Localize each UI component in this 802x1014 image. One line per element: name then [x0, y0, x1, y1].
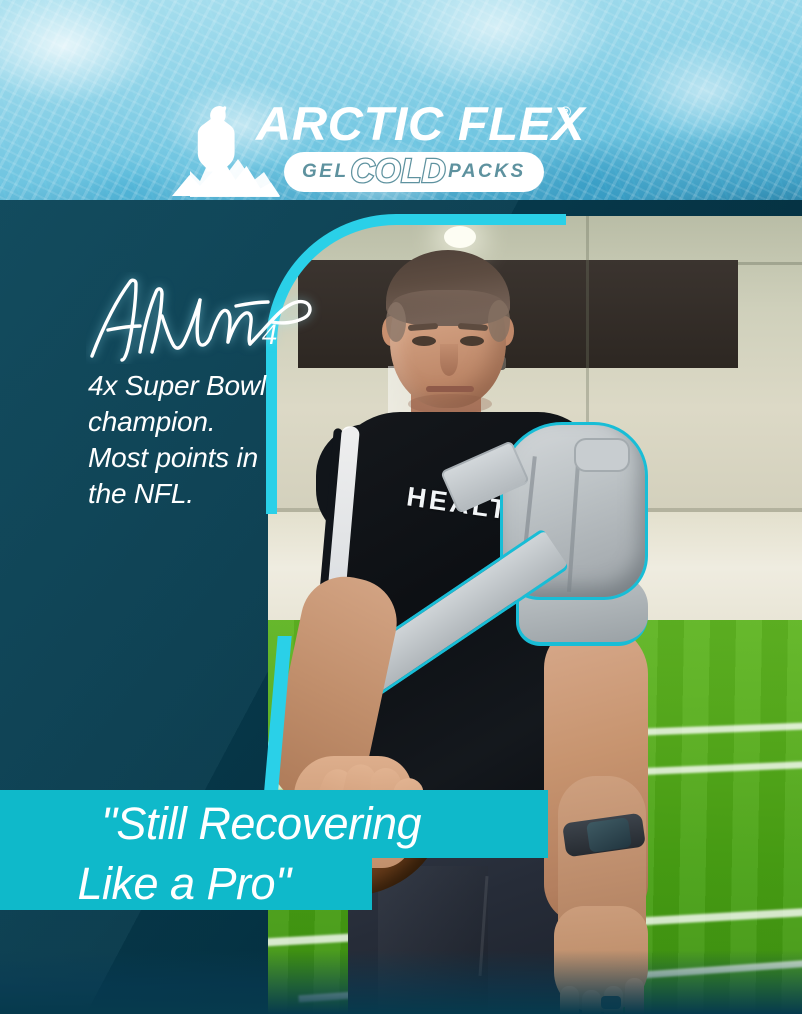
signature-jersey-number: 4 — [262, 318, 277, 352]
brace-velcro-tab — [574, 438, 630, 472]
header-fade-overlay — [0, 950, 802, 1014]
badge-packs-label: PACKS — [448, 161, 526, 183]
registered-trademark-icon: ® — [560, 104, 571, 121]
quote-text: "Still Recovering Like a Pro" — [0, 790, 548, 914]
mouth — [426, 386, 474, 392]
athlete-signature — [86, 272, 322, 364]
quote-line-1: "Still Recovering — [0, 794, 548, 854]
temple-left — [386, 302, 406, 342]
eye-right — [460, 336, 484, 346]
credentials-line-3: Most points in — [88, 442, 258, 473]
temple-right — [488, 300, 510, 342]
credentials-line-4: the NFL. — [88, 478, 194, 509]
badge-cold-label: COLD — [351, 152, 447, 190]
brand-logo[interactable]: ARCTIC FLEX ® GEL COLD PACKS — [172, 100, 602, 198]
eye-left — [412, 336, 436, 346]
chin-shadow — [408, 394, 492, 414]
quote-line-2: Like a Pro" — [0, 854, 372, 914]
athlete-credentials: 4x Super Bowl champion. Most points in t… — [88, 368, 318, 512]
brand-name: ARCTIC FLEX — [256, 96, 585, 151]
wristwatch-face — [586, 817, 632, 853]
nose — [440, 344, 458, 376]
product-badge: GEL COLD PACKS — [284, 152, 544, 192]
credentials-line-1: 4x Super Bowl — [88, 370, 266, 401]
promotional-ad: HEALTH — [0, 0, 802, 1014]
badge-gel-label: GEL — [302, 161, 349, 183]
credentials-line-2: champion. — [88, 406, 215, 437]
